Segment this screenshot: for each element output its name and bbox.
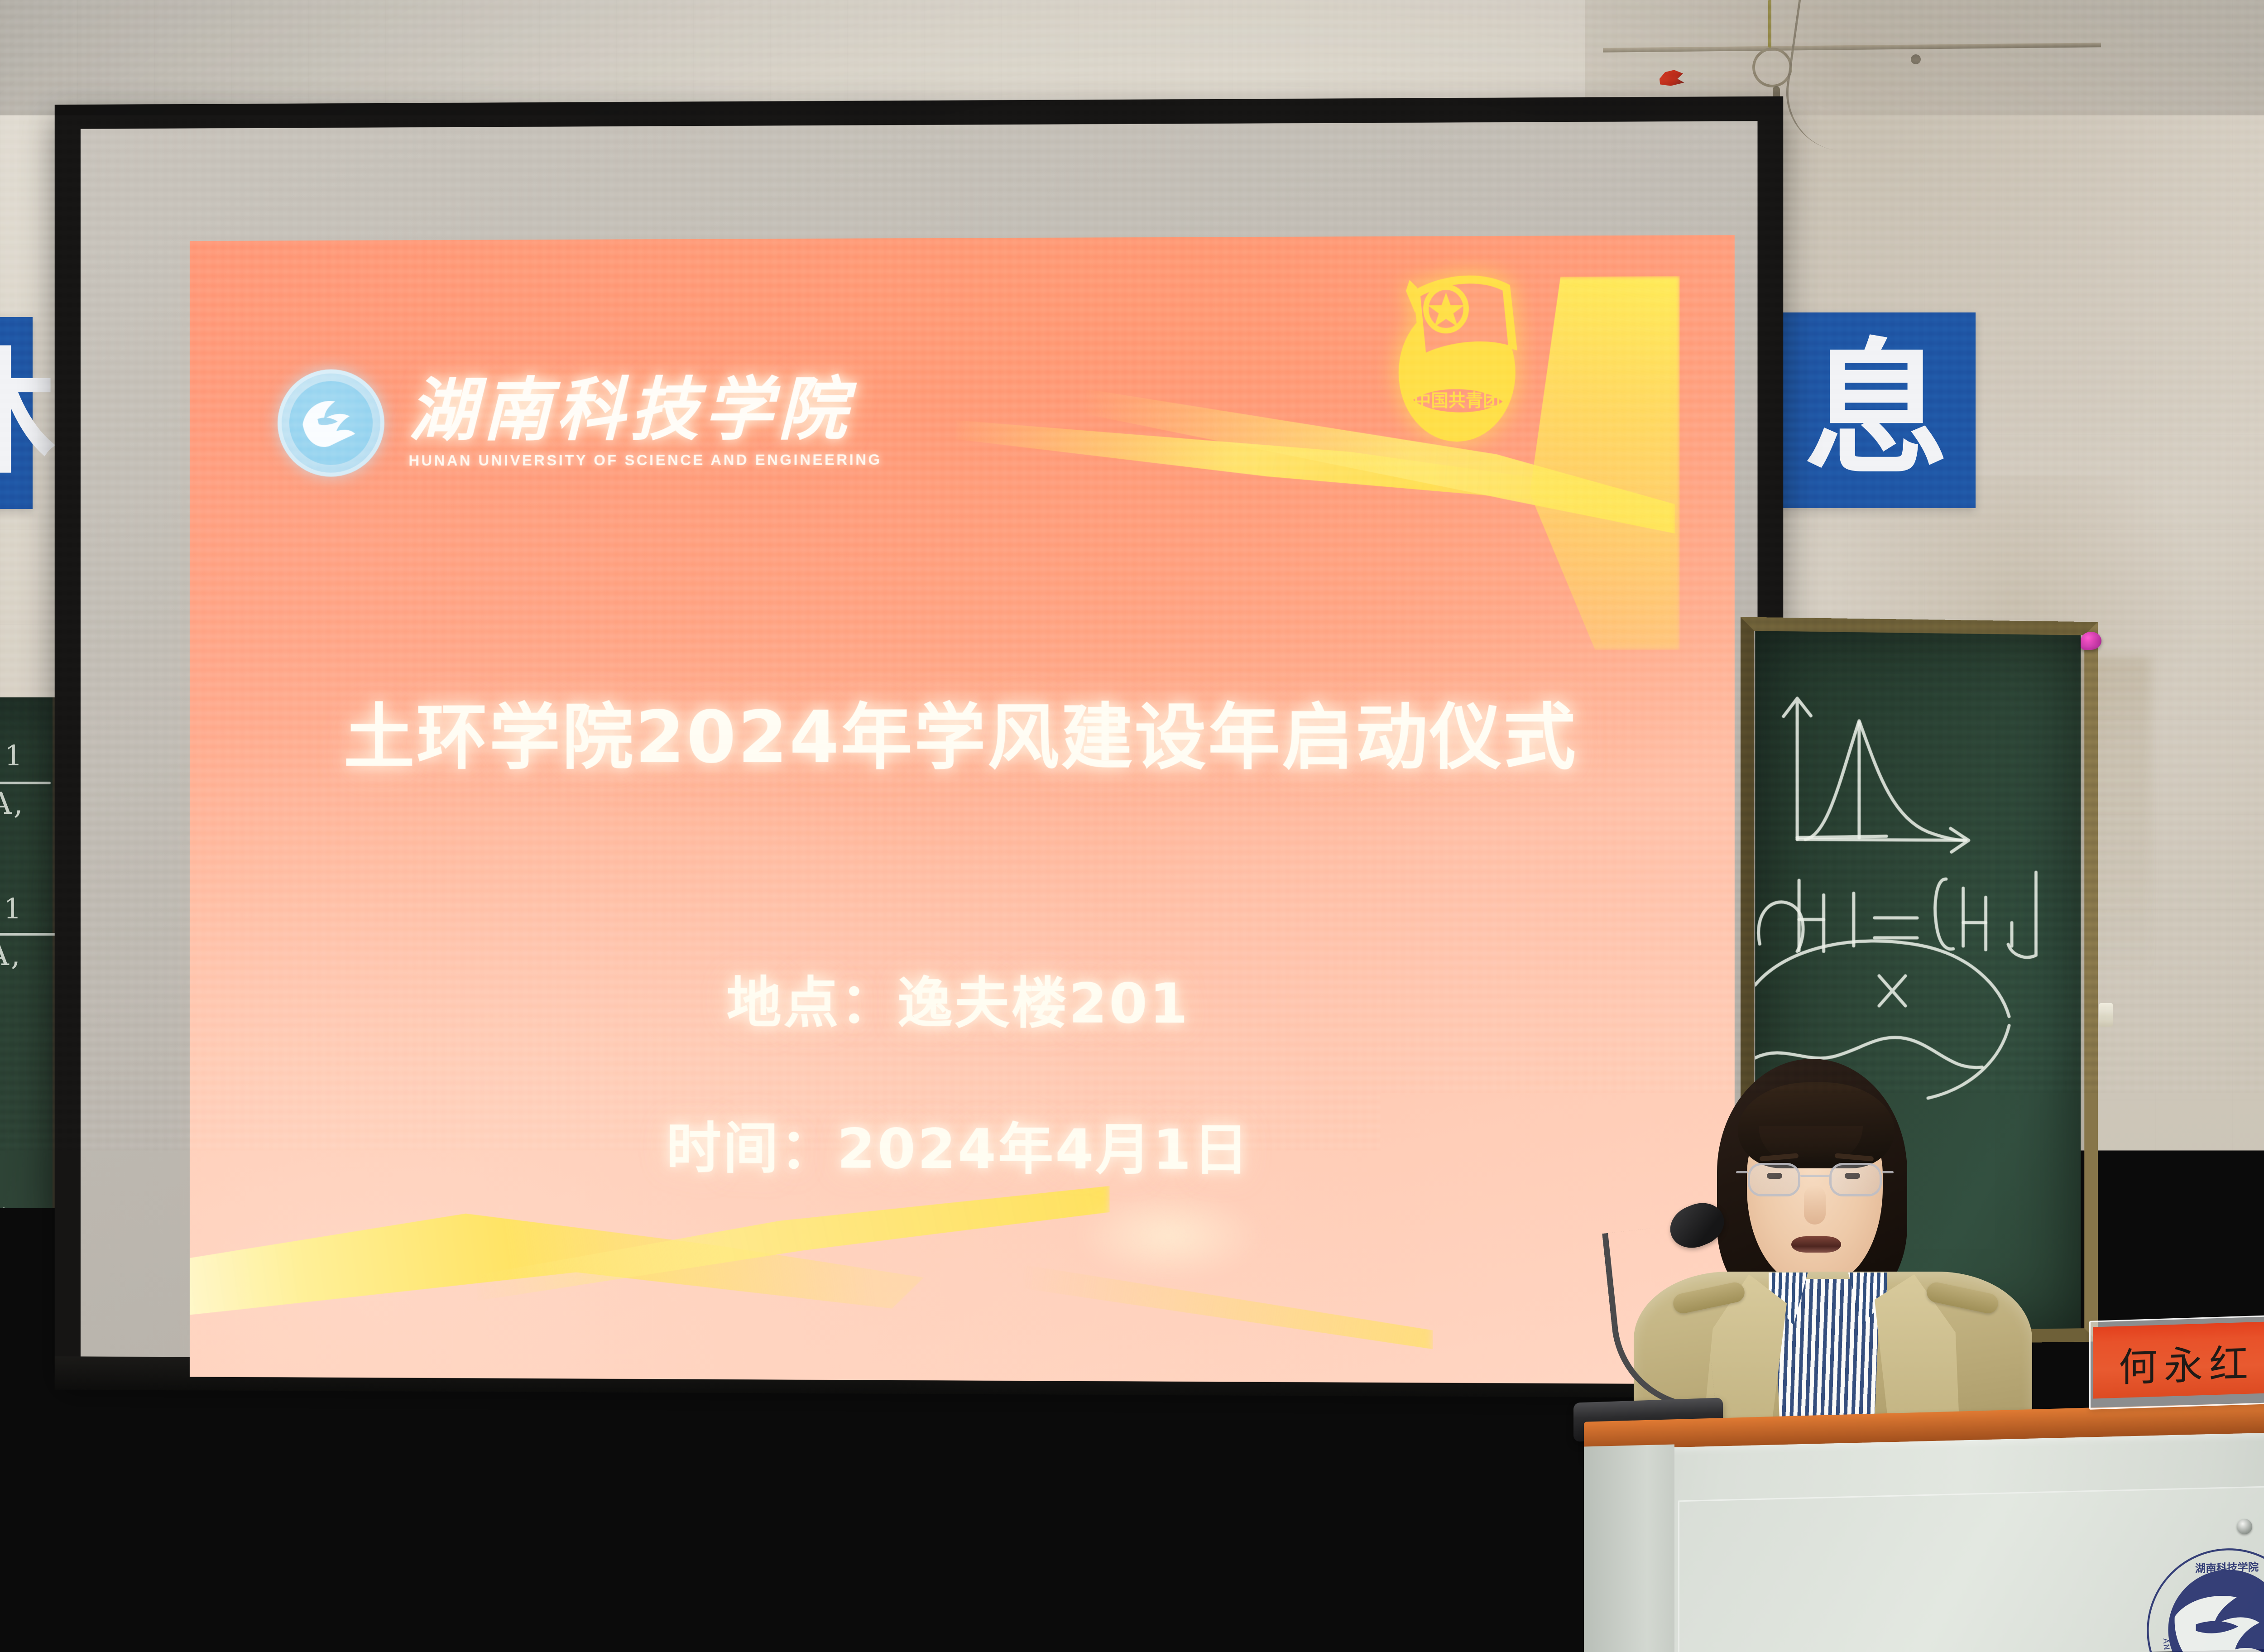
nameplate-holder: 何永红	[2089, 1315, 2264, 1410]
communist-youth-league-emblem-icon: 中国共青团	[1390, 263, 1531, 455]
chalk-left-numerator-1: 1	[5, 739, 22, 772]
lecture-hall-scene: 休 息 1 EA, 1 EA,	[0, 0, 2264, 1652]
ribbon-swoosh-2	[1082, 349, 1675, 559]
wall-sign-left: 休	[0, 317, 33, 509]
lectern-podium: 湖南科技学院 HUNAN UNIVERSITY OF SCIENCE AND E…	[1584, 1411, 2264, 1652]
chalk-left-numerator-2: 1	[4, 892, 21, 925]
chalk-left-denominator-2: EA,	[0, 937, 22, 972]
wall-sign-right-text: 息	[1804, 338, 1949, 483]
ribbon-swoosh-5	[477, 1174, 1109, 1340]
university-name-cn: 湖南科技学院	[408, 375, 882, 445]
blackboard-left: 1 EA, 1 EA,	[0, 697, 59, 1291]
pushpin-icon	[2081, 632, 2101, 650]
university-logo: 湖南科技学院 HUNAN UNIVERSITY OF SCIENCE AND E…	[278, 368, 882, 477]
chalk-left-fracbar-1	[0, 782, 51, 784]
projected-slide: 湖南科技学院 HUNAN UNIVERSITY OF SCIENCE AND E…	[190, 235, 1735, 1384]
chalk-piece	[2099, 1003, 2113, 1027]
lens-right	[1829, 1163, 1882, 1196]
nameplate-text: 何永红	[2119, 1331, 2254, 1392]
shirt-collar	[1769, 1273, 1887, 1327]
ribbon-swoosh-4	[190, 1177, 924, 1375]
wire-loop	[1752, 48, 1792, 87]
wall-sign-right: 息	[1777, 312, 1976, 508]
wall-nail	[1911, 54, 1921, 64]
lock-icon[interactable]	[2237, 1519, 2252, 1534]
projection-screen: 湖南科技学院 HUNAN UNIVERSITY OF SCIENCE AND E…	[55, 96, 1783, 1390]
chalk-x-axis	[1797, 827, 1969, 852]
chalk-left-fracbar-2	[0, 933, 56, 936]
slide-specular-highlight	[1073, 1190, 1264, 1281]
nose	[1804, 1186, 1826, 1225]
lens-left	[1748, 1163, 1800, 1196]
chalk-left-stroke	[0, 1207, 6, 1241]
glasses-temple-right	[1882, 1171, 1894, 1173]
chalk-left-denominator-1: EA,	[0, 786, 25, 821]
university-name-en: HUNAN UNIVERSITY OF SCIENCE AND ENGINEER…	[408, 451, 882, 469]
mouth	[1791, 1236, 1841, 1253]
swan-icon	[297, 389, 365, 457]
university-logo-text: 湖南科技学院 HUNAN UNIVERSITY OF SCIENCE AND E…	[408, 375, 882, 469]
glasses-temple-left	[1736, 1171, 1748, 1173]
hair-fringe	[1738, 1082, 1895, 1168]
gooseneck-microphone-icon[interactable]	[1573, 1205, 1764, 1440]
ribbon-swoosh-1	[955, 372, 1638, 510]
svg-text:中国共青团: 中国共青团	[1414, 390, 1500, 410]
microphone-gooseneck[interactable]	[1602, 1224, 1716, 1418]
podium-university-seal-icon: 湖南科技学院 HUNAN UNIVERSITY OF SCIENCE AND E…	[2145, 1545, 2264, 1652]
slide-location-line: 地点：逸夫楼201	[190, 957, 1735, 1040]
university-seal-icon	[278, 369, 384, 477]
podium-left-edge	[1584, 1445, 1674, 1652]
slide-title: 土环学院2024年学风建设年启动仪式	[190, 699, 1735, 777]
glasses-bridge	[1800, 1175, 1829, 1177]
slide-time-line: 时间：2024年4月1日	[190, 1102, 1735, 1187]
nameplate-card: 何永红	[2093, 1321, 2264, 1399]
svg-text:湖南科技学院: 湖南科技学院	[2195, 1561, 2259, 1575]
wall-sign-left-text: 休	[0, 345, 55, 481]
hanging-wire-top	[1768, 0, 1771, 48]
chalk-y-axis	[1784, 698, 1811, 840]
